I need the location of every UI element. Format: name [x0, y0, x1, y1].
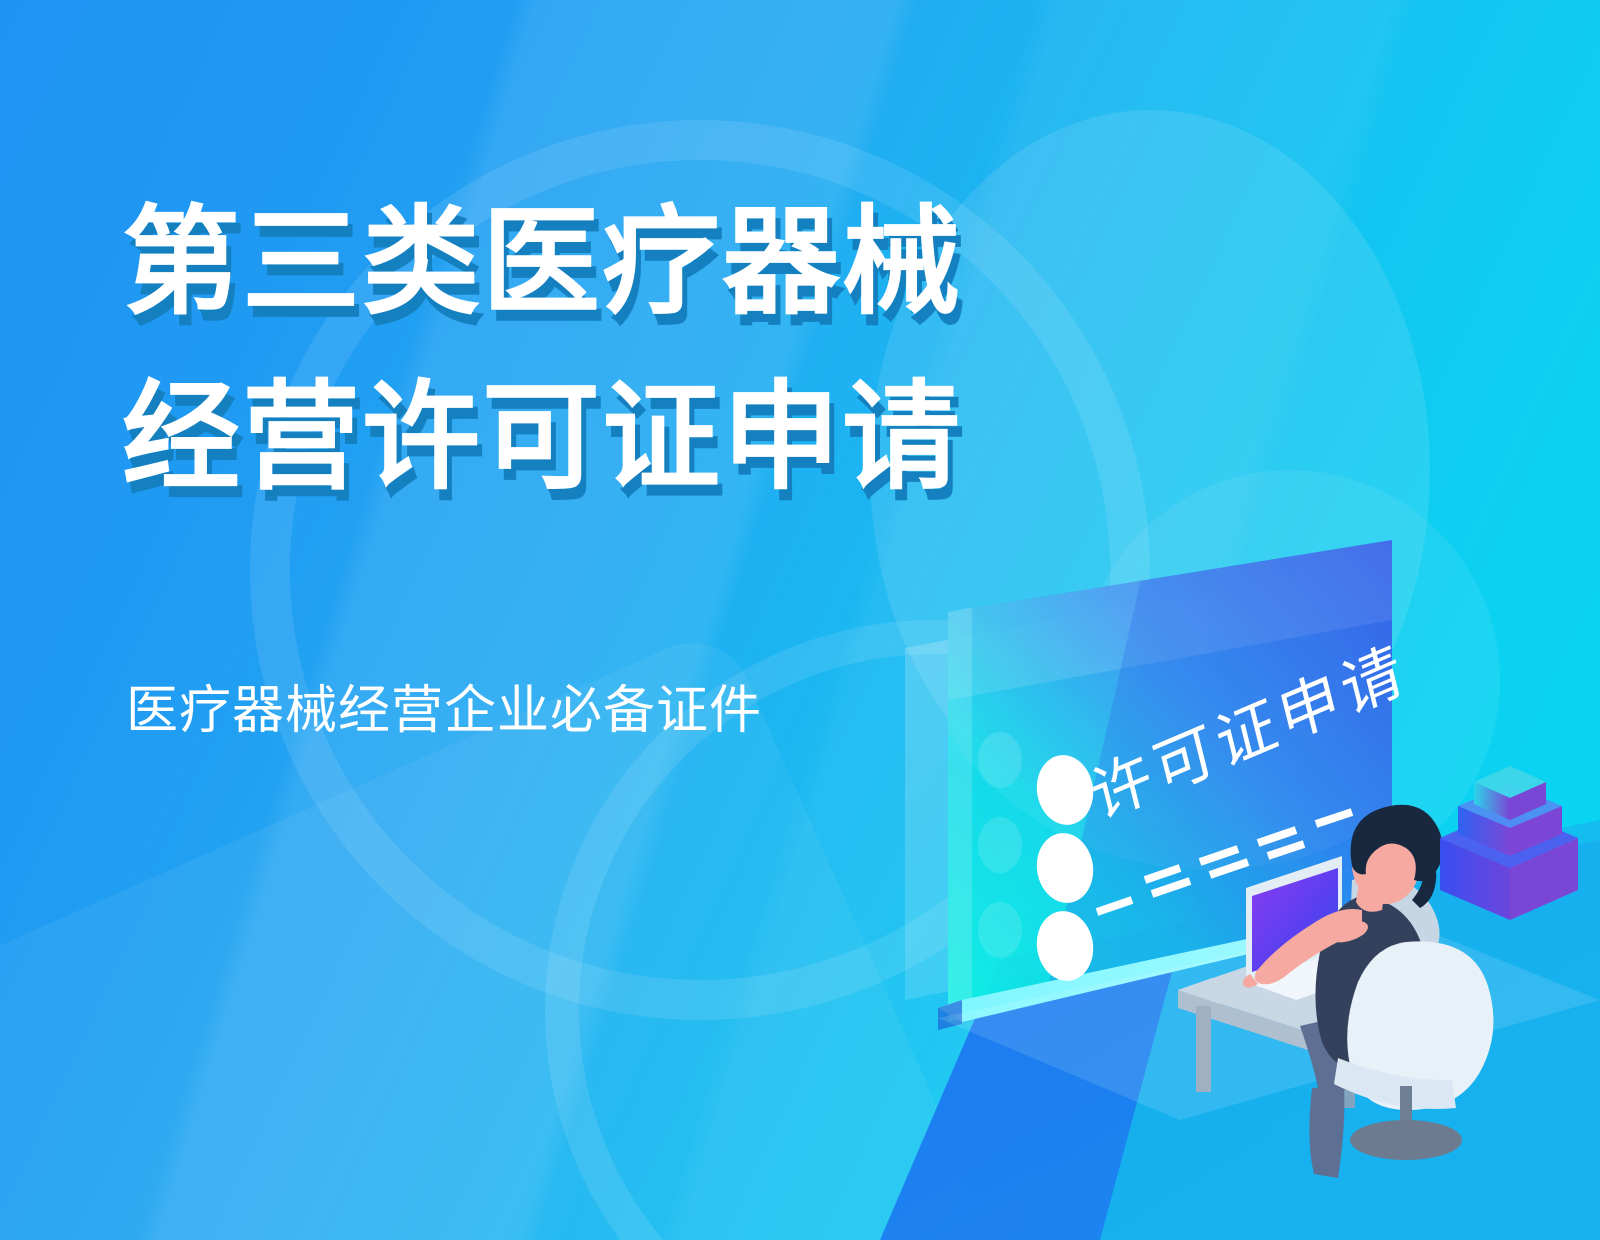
poster-canvas: 许可证申请 — [0, 0, 1600, 1240]
subtitle: 医疗器械经营企业必备证件 — [126, 680, 762, 742]
title-line-2: 经营许可证申请 — [122, 351, 962, 526]
headline-block: 第三类医疗器械 经营许可证申请 — [122, 176, 962, 525]
title-line-1: 第三类医疗器械 — [122, 176, 962, 351]
